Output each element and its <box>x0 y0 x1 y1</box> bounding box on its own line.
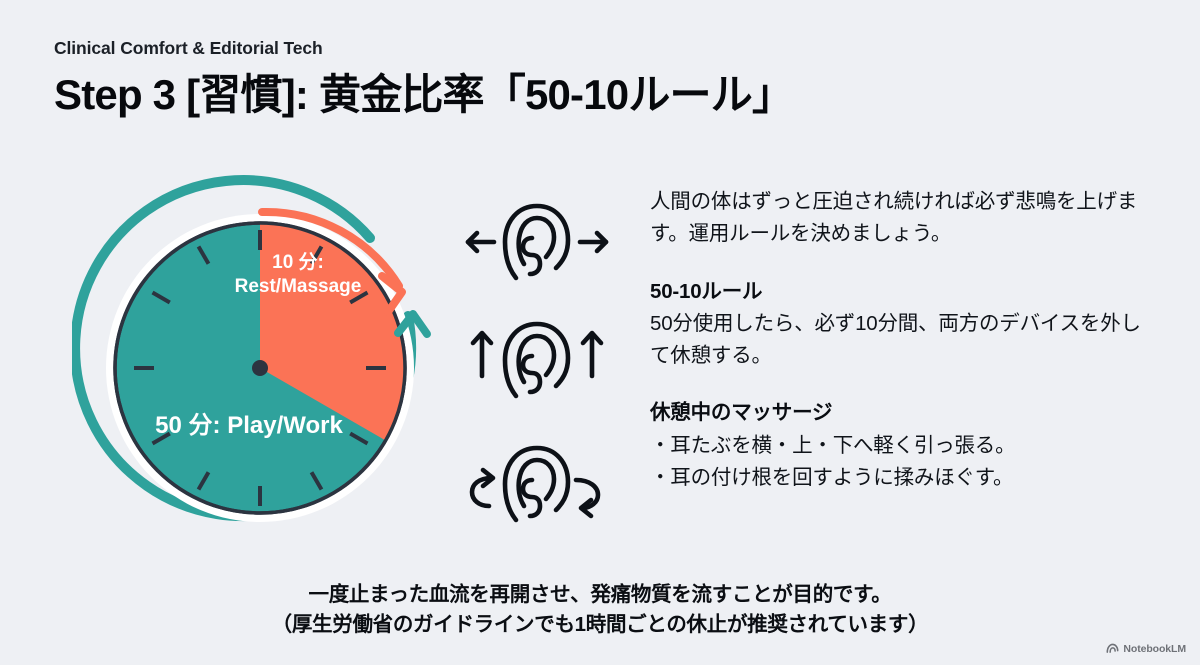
intro-paragraph: 人間の体はずっと圧迫され続ければ必ず悲鳴を上げます。運用ルールを決めましょう。 <box>650 186 1150 251</box>
rule-block: 50-10ルール 50分使用したら、必ず10分間、両方のデバイスを外して休憩する… <box>650 277 1150 373</box>
rest-slice-label-line1: 10 分: <box>272 251 324 273</box>
footer-line-2: （厚生労働省のガイドラインでも1時間ごとの休止が推奨されています） <box>0 610 1200 640</box>
page-title: Step 3 [習慣]: 黄金比率「50-10ルール」 <box>54 70 1154 120</box>
rule-block-title: 50-10ルール <box>650 277 1150 308</box>
ear-pull-sideways-icon <box>462 194 612 290</box>
notebooklm-icon <box>1106 642 1119 655</box>
icon-slot-3 <box>462 430 612 534</box>
rule-block-body: 50分使用したら、必ず10分間、両方のデバイスを外して休憩する。 <box>650 308 1150 373</box>
clock-svg: 10 分: Rest/Massage 50 分: Play/Work <box>72 168 462 558</box>
clock-center-dot <box>252 360 268 376</box>
icon-slot-1 <box>462 190 612 294</box>
slide-footer: 一度止まった血流を再開させ、発痛物質を流すことが目的です。 （厚生労働省のガイド… <box>0 580 1200 639</box>
slide-header: Clinical Comfort & Editorial Tech Step 3… <box>54 38 1154 120</box>
explanation-column: 人間の体はずっと圧迫され続ければ必ず悲鳴を上げます。運用ルールを決めましょう。 … <box>650 186 1150 494</box>
icon-slot-2 <box>462 308 612 412</box>
ear-pull-up-icon <box>462 312 612 408</box>
fifty-ten-clock-diagram: 10 分: Rest/Massage 50 分: Play/Work <box>72 168 462 558</box>
footer-line-1: 一度止まった血流を再開させ、発痛物質を流すことが目的です。 <box>0 580 1200 610</box>
eyebrow-text: Clinical Comfort & Editorial Tech <box>54 38 1154 59</box>
work-slice-label: 50 分: Play/Work <box>155 412 343 439</box>
watermark-label: NotebookLM <box>1123 643 1186 655</box>
massage-bullet-list: ・耳たぶを横・上・下へ軽く引っ張る。 ・耳の付け根を回すように揉みほぐす。 <box>650 430 1150 494</box>
rest-slice-label-line2: Rest/Massage <box>235 276 362 297</box>
ear-rotate-icon <box>462 432 612 532</box>
list-item: ・耳たぶを横・上・下へ軽く引っ張る。 <box>650 430 1150 462</box>
notebooklm-watermark: NotebookLM <box>1106 642 1186 655</box>
list-item: ・耳の付け根を回すように揉みほぐす。 <box>650 462 1150 494</box>
massage-block-title: 休憩中のマッサージ <box>650 398 1150 429</box>
ear-icon-column <box>462 186 612 556</box>
massage-block: 休憩中のマッサージ ・耳たぶを横・上・下へ軽く引っ張る。 ・耳の付け根を回すよう… <box>650 398 1150 494</box>
